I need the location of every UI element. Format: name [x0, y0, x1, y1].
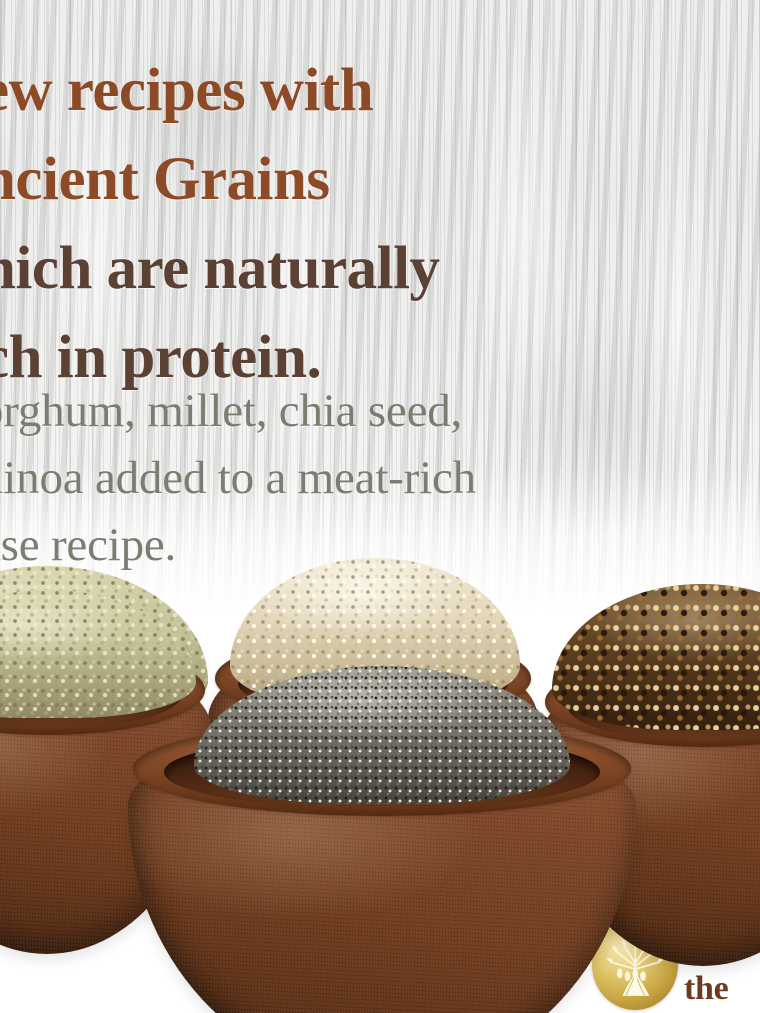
body-line-1: orghum, millet, chia seed,	[0, 378, 760, 445]
logo-line-2: the	[684, 965, 760, 1012]
body-copy-block: orghum, millet, chia seed, uinoa added t…	[0, 378, 760, 579]
headline-block: ew recipes with ncient Grains hich are n…	[0, 46, 760, 402]
grain-bowls-photo	[0, 560, 760, 1013]
headline-line-1: ew recipes with	[0, 46, 760, 135]
headline-line-2: ncient Grains	[0, 135, 760, 224]
headline-line-3: hich are naturally	[0, 224, 760, 313]
chia-mound	[194, 666, 570, 804]
banner-image: ew recipes with ncient Grains hich are n…	[0, 0, 760, 1013]
sorghum-mound-front	[0, 590, 196, 718]
chia-bowl	[128, 728, 636, 1013]
body-line-2: uinoa added to a meat-rich	[0, 445, 760, 512]
popped-grain-mound	[552, 584, 760, 730]
